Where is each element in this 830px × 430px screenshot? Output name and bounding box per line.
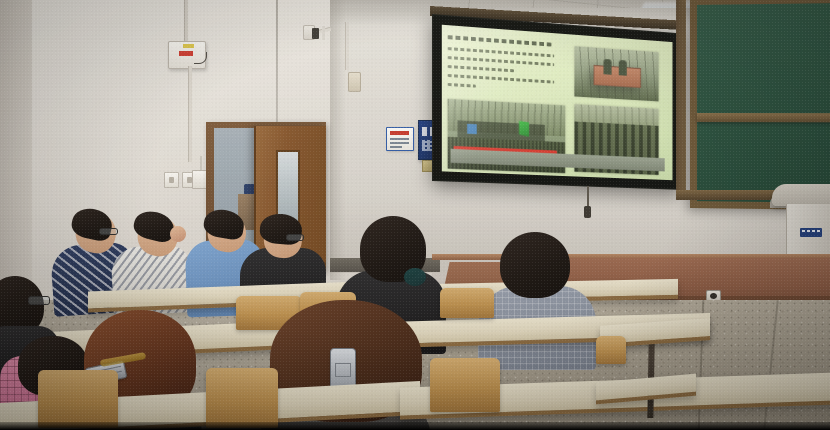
- sign-text-line: [390, 146, 402, 148]
- photo-blue-flag: [467, 124, 477, 134]
- wooden-chair-back: [430, 358, 500, 412]
- sign-header-bar: [390, 131, 409, 135]
- slide-photo-podium: [574, 46, 658, 101]
- projection-screen-surface: [442, 25, 673, 180]
- wooden-chair-back: [38, 370, 118, 428]
- lectern-label: [800, 228, 822, 237]
- person-black-tshirt-collar: [404, 268, 426, 286]
- warning-label-yellow: [183, 44, 194, 48]
- slide-body-line: [448, 83, 476, 88]
- electrical-conduit-upper: [184, 0, 188, 42]
- slide-body-line: [448, 47, 554, 57]
- photo-green-flag: [519, 121, 529, 137]
- electrical-conduit-lower: [188, 66, 192, 162]
- wall-conduit-back: [345, 22, 349, 70]
- cord-plug: [584, 206, 591, 218]
- sign-text-line: [390, 142, 409, 144]
- photo-backdrop-board: [593, 65, 640, 88]
- warning-label-red: [179, 51, 193, 56]
- slide-title-line: [448, 35, 551, 46]
- person-left-edge-glasses: [28, 296, 50, 305]
- person-black-hoodie-glasses: [286, 234, 304, 241]
- wooden-chair-back: [440, 288, 494, 318]
- camera-lens-icon: [312, 28, 319, 39]
- slide-text-block: [448, 35, 554, 98]
- emergency-notice-sign: [386, 127, 414, 151]
- person-navy-glasses: [99, 228, 118, 235]
- camera-pole: [322, 26, 325, 40]
- person-white-shirt-hands: [170, 226, 186, 242]
- sign-text-line: [390, 138, 409, 140]
- green-chalkboard: [690, 0, 830, 210]
- slide-body-line: [448, 56, 554, 66]
- slide-body-line: [448, 65, 515, 72]
- lectern-top: [772, 184, 830, 206]
- hanging-power-cord: [587, 186, 589, 208]
- wall-corner-shading: [330, 0, 346, 280]
- wooden-chair-back: [206, 368, 278, 428]
- electrical-junction-box: [168, 41, 206, 69]
- chalkboard-divider-rail: [697, 113, 830, 122]
- chalkboard-left-frame: [676, 0, 686, 196]
- person-gray-shirt-head: [500, 232, 570, 298]
- photo-figure: [603, 59, 611, 75]
- projection-screen: [432, 14, 681, 190]
- classroom-photo: [0, 0, 830, 430]
- light-switch-1[interactable]: [164, 172, 179, 188]
- conduit-wire: [194, 52, 207, 64]
- photo-figure: [619, 60, 627, 76]
- wall-mounted-fixture: [348, 72, 361, 92]
- slide-body-line: [448, 74, 554, 84]
- wooden-chair-back: [596, 336, 626, 364]
- bottom-letterbox: [0, 422, 830, 430]
